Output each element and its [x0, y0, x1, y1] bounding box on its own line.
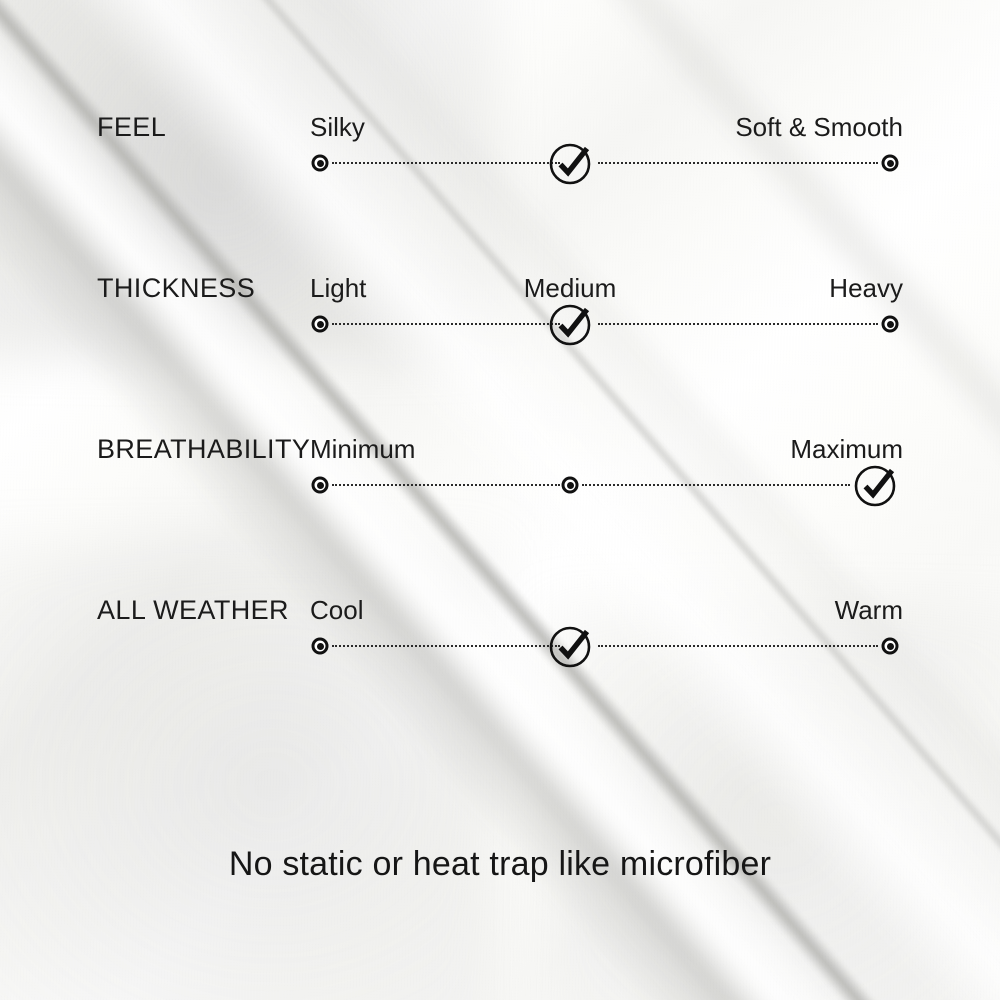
- spec-dotted-line-left: [332, 645, 560, 647]
- spec-marker-middle-dot[interactable]: [562, 477, 579, 494]
- spec-track: [320, 323, 890, 325]
- spec-row-label: THICKNESS: [97, 273, 255, 304]
- spec-marker-left-dot[interactable]: [312, 155, 329, 172]
- spec-marker-left-dot[interactable]: [312, 316, 329, 333]
- spec-dotted-line-right: [598, 323, 878, 325]
- spec-marker-middle-check-icon[interactable]: [547, 140, 593, 186]
- spec-dotted-line-right: [582, 484, 850, 486]
- spec-row-all-weather: ALL WEATHER Cool Warm: [0, 595, 1000, 715]
- bottom-caption: No static or heat trap like microfiber: [0, 845, 1000, 884]
- spec-value-right: Warm: [835, 595, 903, 626]
- spec-marker-left-dot[interactable]: [312, 477, 329, 494]
- spec-value-left: Minimum: [310, 434, 415, 465]
- spec-value-left: Cool: [310, 595, 363, 626]
- spec-dotted-line-left: [332, 323, 560, 325]
- spec-dotted-line-left: [332, 162, 560, 164]
- spec-row-thickness: THICKNESS Light Medium Heavy: [0, 273, 1000, 393]
- spec-marker-middle-check-icon[interactable]: [547, 623, 593, 669]
- spec-row-label: FEEL: [97, 112, 166, 143]
- spec-row-label: BREATHABILITY: [97, 434, 310, 465]
- product-spec-infographic: FEEL Silky Soft & Smooth THICKNESS Light: [0, 0, 1000, 1000]
- spec-value-right: Soft & Smooth: [735, 112, 903, 143]
- spec-row-feel: FEEL Silky Soft & Smooth: [0, 112, 1000, 232]
- spec-track: [320, 645, 890, 647]
- spec-dotted-line-right: [598, 162, 878, 164]
- spec-content: FEEL Silky Soft & Smooth THICKNESS Light: [0, 0, 1000, 1000]
- spec-dotted-line-left: [332, 484, 560, 486]
- spec-value-right: Heavy: [829, 273, 903, 304]
- spec-marker-middle-check-icon[interactable]: [547, 301, 593, 347]
- spec-value-right: Maximum: [790, 434, 903, 465]
- spec-marker-right-dot[interactable]: [882, 638, 899, 655]
- spec-row-breathability: BREATHABILITY Minimum Maximum: [0, 434, 1000, 554]
- spec-value-left: Light: [310, 273, 366, 304]
- spec-track: [320, 484, 890, 486]
- spec-track: [320, 162, 890, 164]
- spec-marker-right-dot[interactable]: [882, 316, 899, 333]
- spec-dotted-line-right: [598, 645, 878, 647]
- spec-row-label: ALL WEATHER: [97, 595, 289, 626]
- spec-marker-right-check-icon[interactable]: [852, 462, 898, 508]
- spec-value-left: Silky: [310, 112, 365, 143]
- spec-marker-right-dot[interactable]: [882, 155, 899, 172]
- spec-value-middle: Medium: [524, 273, 616, 304]
- spec-marker-left-dot[interactable]: [312, 638, 329, 655]
